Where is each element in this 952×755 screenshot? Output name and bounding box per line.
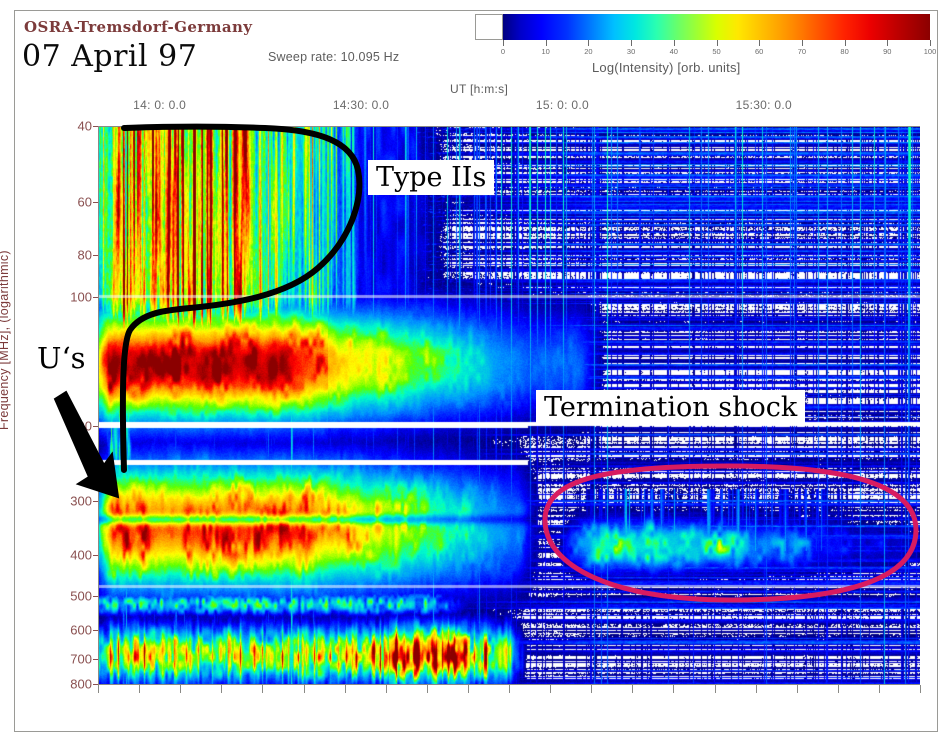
y-tick-label-60: 60 [78, 194, 92, 209]
y-tick-label-600: 600 [70, 623, 92, 638]
colorbar-tick [845, 40, 846, 46]
x-tick [345, 685, 346, 693]
spectrogram-page: OSRA-Tremsdorf-Germany 07 April 97 Sweep… [0, 0, 952, 755]
colorbar-tick-label: 60 [755, 47, 763, 56]
colorbar-tick-label: 0 [501, 47, 505, 56]
colorbar-tick-label: 30 [627, 47, 635, 56]
colorbar-tick-label: 20 [584, 47, 592, 56]
y-tick-label-800: 800 [70, 677, 92, 692]
colorbar-caption: Log(Intensity) [orb. units] [592, 60, 740, 75]
y-tick-label-300: 300 [70, 494, 92, 509]
y-tick-label-40: 40 [78, 119, 92, 134]
annotation-type-iis: Type IIs [368, 160, 494, 195]
y-tick-label-700: 700 [70, 652, 92, 667]
x-tick [180, 685, 181, 693]
colorbar-tick [717, 40, 718, 46]
sweep-rate-label: Sweep rate: 10.095 Hz [268, 50, 399, 64]
y-axis-tick-labels: 406080100200300400500600700800 [44, 118, 100, 698]
colorbar-gradient [503, 14, 930, 40]
x-tick [386, 685, 387, 693]
x-tick [632, 685, 633, 693]
ut-unit-label: UT [h:m:s] [450, 82, 508, 96]
x-tick-label: 15: 0: 0.0 [536, 98, 589, 112]
y-tick-label-100: 100 [70, 289, 92, 304]
x-tick [304, 685, 305, 693]
x-tick [756, 685, 757, 693]
x-tick [920, 685, 921, 693]
x-tick [427, 685, 428, 693]
y-tick-label-200: 200 [70, 418, 92, 433]
colorbar-tick [631, 40, 632, 46]
colorbar-tick [802, 40, 803, 46]
x-tick-label: 15:30: 0.0 [736, 98, 792, 112]
colorbar-tick [930, 40, 931, 46]
x-tick-label: 14:30: 0.0 [333, 98, 389, 112]
observation-date: 07 April 97 [22, 39, 197, 74]
y-tick-label-500: 500 [70, 589, 92, 604]
x-tick [98, 685, 99, 693]
x-tick [715, 685, 716, 693]
y-tick-label-80: 80 [78, 248, 92, 263]
x-tick [838, 685, 839, 693]
x-tick [509, 685, 510, 693]
colorbar-tick-label: 70 [798, 47, 806, 56]
colorbar-tick-label: 90 [883, 47, 891, 56]
colorbar-tick [588, 40, 589, 46]
x-tick [879, 685, 880, 693]
x-tick [673, 685, 674, 693]
x-tick [797, 685, 798, 693]
colorbar-tick-labels: 0102030405060708090100 [503, 47, 930, 59]
colorbar-tick-label: 40 [670, 47, 678, 56]
x-tick [591, 685, 592, 693]
colorbar: 0102030405060708090100 [475, 14, 930, 40]
x-axis-tick-labels: 14: 0: 0.014:30: 0.015: 0: 0.015:30: 0.0 [98, 98, 920, 114]
colorbar-tick [759, 40, 760, 46]
colorbar-tick-label: 80 [840, 47, 848, 56]
colorbar-tick [674, 40, 675, 46]
colorbar-tick-label: 100 [924, 47, 937, 56]
colorbar-tick [546, 40, 547, 46]
x-tick [139, 685, 140, 693]
annotation-us: U‘s [32, 340, 91, 376]
annotation-termination-shock: Termination shock [536, 390, 805, 425]
x-tick [550, 685, 551, 693]
y-axis-label: Frequency [MHz], (logarithmic) [0, 130, 11, 430]
x-tick [468, 685, 469, 693]
colorbar-blank-swatch [475, 14, 503, 40]
x-tick [221, 685, 222, 693]
colorbar-tick [503, 40, 504, 46]
colorbar-tick-label: 10 [542, 47, 550, 56]
colorbar-tick-label: 50 [712, 47, 720, 56]
y-tick-label-400: 400 [70, 547, 92, 562]
station-title: OSRA-Tremsdorf-Germany [24, 18, 252, 36]
colorbar-ticks [503, 40, 930, 47]
x-axis-ticks [98, 684, 920, 697]
x-tick-label: 14: 0: 0.0 [133, 98, 186, 112]
x-tick [262, 685, 263, 693]
colorbar-tick [887, 40, 888, 46]
